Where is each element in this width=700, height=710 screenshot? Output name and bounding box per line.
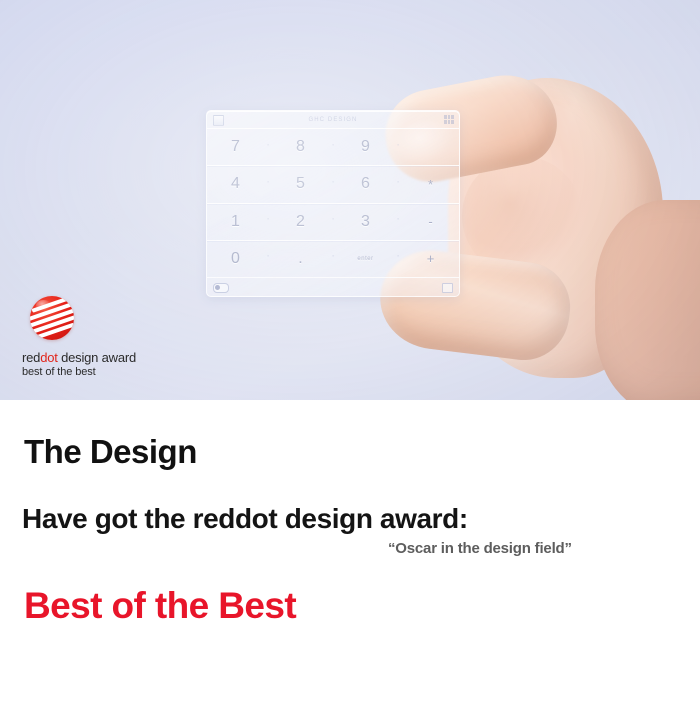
key-separator: ' [264,144,272,151]
key-multiply[interactable]: * [402,178,459,191]
key-separator: ' [264,218,272,225]
award-title-suffix: design award [58,350,136,365]
keypad-row[interactable]: 4 ' 5 ' 6 ' * [207,166,459,203]
key-6[interactable]: 6 [337,176,394,192]
key-4[interactable]: 4 [207,176,264,192]
text-panel: The Design Have got the reddot design aw… [0,400,700,710]
device-header: GHC DESIGN [207,111,459,129]
key-1[interactable]: 1 [207,214,264,230]
key-separator: ' [394,255,402,262]
key-8[interactable]: 8 [272,139,329,155]
subheading: Have got the reddot design award: [22,503,468,535]
key-9[interactable]: 9 [337,139,394,155]
reddot-award-badge: reddot design award best of the best [22,296,182,378]
key-separator: ' [329,255,337,262]
key-2[interactable]: 2 [272,214,329,230]
power-toggle-icon[interactable] [213,283,229,293]
key-separator: ' [264,181,272,188]
key-separator: ' [264,255,272,262]
award-subtitle: best of the best [22,366,182,378]
device-brand-label: GHC DESIGN [308,117,357,123]
award-title: reddot design award [22,350,182,365]
grid-icon [444,115,454,124]
transparent-keypad-device[interactable]: GHC DESIGN 7 ' 8 ' 9 ' 4 ' 5 ' 6 ' [206,110,460,297]
key-separator: ' [394,181,402,188]
key-0[interactable]: 0 [207,251,264,267]
key-separator: ' [329,181,337,188]
key-separator: ' [329,218,337,225]
key-3[interactable]: 3 [337,214,394,230]
key-enter[interactable]: enter [337,256,394,262]
quote-caption: “Oscar in the design field” [388,540,572,557]
port-icon [442,283,453,293]
battery-icon [213,115,224,126]
keypad-row[interactable]: 1 ' 2 ' 3 ' - [207,204,459,241]
key-decimal[interactable]: . [272,251,329,267]
key-separator: ' [329,144,337,151]
key-separator: ' [394,218,402,225]
keypad-row[interactable]: 7 ' 8 ' 9 ' [207,129,459,166]
reddot-sphere-icon [30,296,74,340]
page-title: The Design [24,433,197,471]
award-tier-label: Best of the Best [24,585,296,627]
product-photo-panel: GHC DESIGN 7 ' 8 ' 9 ' 4 ' 5 ' 6 ' [0,0,700,400]
key-7[interactable]: 7 [207,139,264,155]
award-title-accent: dot [40,350,57,365]
key-plus[interactable]: + [402,252,459,265]
key-5[interactable]: 5 [272,176,329,192]
award-title-prefix: red [22,350,40,365]
key-separator: ' [394,144,402,151]
device-footer [207,277,459,296]
key-minus[interactable]: - [402,215,459,228]
keypad-grid[interactable]: 7 ' 8 ' 9 ' 4 ' 5 ' 6 ' * 1 ' 2 ' [207,129,459,277]
keypad-row[interactable]: 0 ' . ' enter ' + [207,241,459,277]
